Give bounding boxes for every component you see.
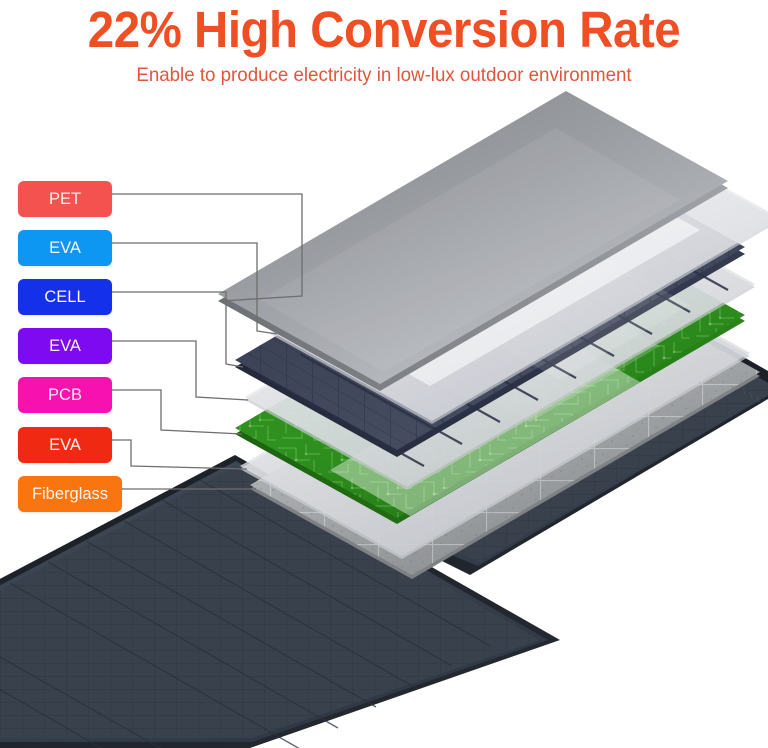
layer-label-eva-1[interactable]: EVA (18, 230, 112, 266)
layer-label-text: EVA (49, 239, 81, 257)
layer-label-eva-2[interactable]: EVA (18, 328, 112, 364)
exploded-layer-illustration (0, 0, 768, 748)
layer-label-eva-3[interactable]: EVA (18, 427, 112, 463)
layer-label-text: EVA (49, 436, 81, 454)
layer-label-pcb[interactable]: PCB (18, 377, 112, 413)
layer-label-text: PET (49, 190, 81, 208)
layer-label-text: CELL (44, 288, 85, 306)
layer-label-text: Fiberglass (32, 485, 108, 503)
layer-label-pet[interactable]: PET (18, 181, 112, 217)
layer-label-fiberglass[interactable]: Fiberglass (18, 476, 122, 512)
layer-label-text: EVA (49, 337, 81, 355)
layer-diagram-stage (0, 0, 768, 748)
layer-label-text: PCB (48, 386, 82, 404)
layer-label-cell[interactable]: CELL (18, 279, 112, 315)
